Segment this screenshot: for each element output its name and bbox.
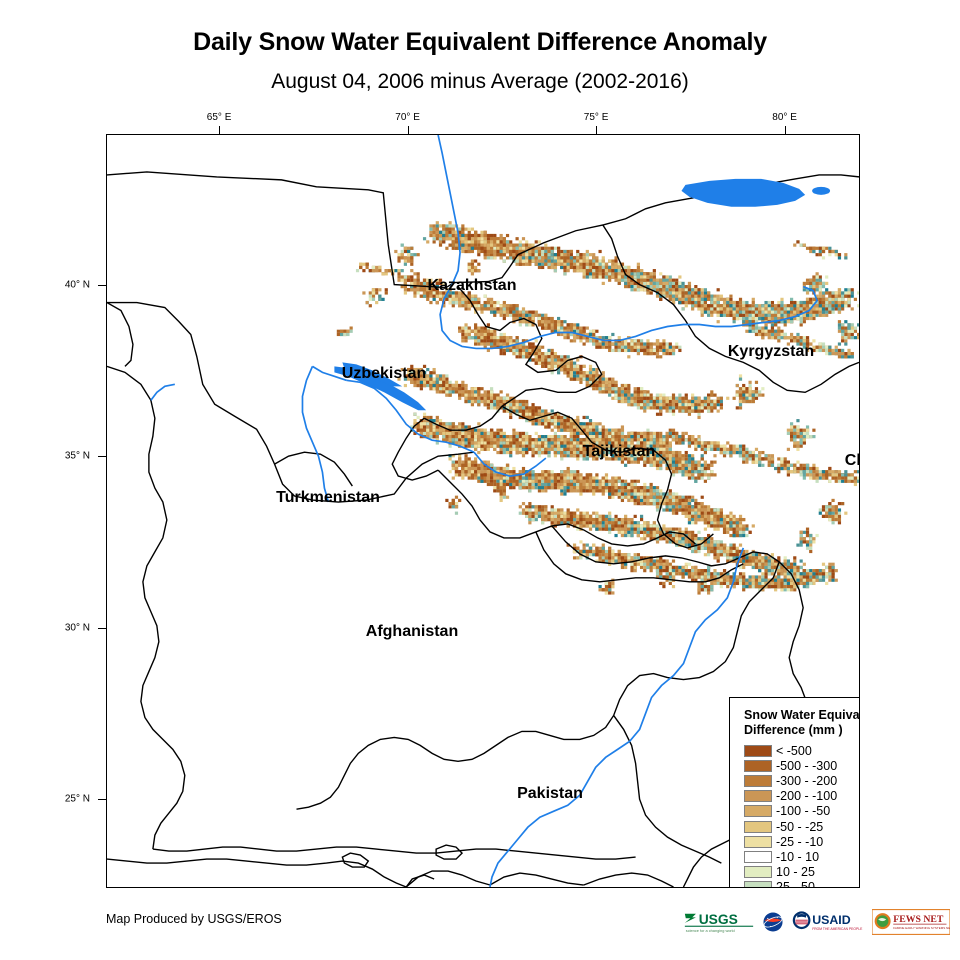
lat-tick-label: 35° N xyxy=(40,451,90,462)
legend-swatch xyxy=(744,866,772,878)
legend-row[interactable]: -50 - -25 xyxy=(744,819,860,834)
lat-tick-label: 25° N xyxy=(40,793,90,804)
lat-tick-label: 40° N xyxy=(40,279,90,290)
legend-swatch xyxy=(744,760,772,772)
legend-label: < -500 xyxy=(776,744,812,758)
lat-tick-mark xyxy=(98,799,106,800)
lon-tick-mark xyxy=(219,126,220,134)
lon-tick-label: 65° E xyxy=(207,112,232,123)
legend-swatch xyxy=(744,821,772,833)
legend-label: -50 - -25 xyxy=(776,820,823,834)
legend-row[interactable]: -200 - -100 xyxy=(744,789,860,804)
legend-class-list: < -500-500 - -300-300 - -200-200 - -100-… xyxy=(744,743,860,888)
country-label-turkmenistan: Turkmenistan xyxy=(276,489,380,507)
legend-label: -10 - 10 xyxy=(776,850,819,864)
legend-label: 25 - 50 xyxy=(776,880,815,888)
issyk-kul-lake xyxy=(681,179,805,207)
agency-logos: USGS science for a changing world USAID … xyxy=(683,908,950,936)
legend-row[interactable]: -10 - 10 xyxy=(744,849,860,864)
legend-row[interactable]: 25 - 50 xyxy=(744,880,860,888)
usaid-logo[interactable]: USAID FROM THE AMERICAN PEOPLE xyxy=(791,909,867,935)
footer-credit: Map Produced by USGS/EROS xyxy=(106,912,282,926)
lon-tick-label: 70° E xyxy=(395,112,420,123)
legend-swatch xyxy=(744,881,772,888)
country-label-china: China xyxy=(845,452,860,470)
legend-title-line2: Difference (mm ) xyxy=(744,723,860,738)
country-label-kyrgyzstan: Kyrgyzstan xyxy=(728,343,814,361)
legend-swatch xyxy=(744,851,772,863)
legend-row[interactable]: 10 - 25 xyxy=(744,865,860,880)
legend-label: -100 - -50 xyxy=(776,804,830,818)
legend-row[interactable]: -100 - -50 xyxy=(744,804,860,819)
legend-swatch xyxy=(744,745,772,757)
legend-label: -500 - -300 xyxy=(776,759,837,773)
legend-swatch xyxy=(744,775,772,787)
lat-tick-mark xyxy=(98,456,106,457)
lon-tick-mark xyxy=(785,126,786,134)
legend-row[interactable]: < -500 xyxy=(744,743,860,758)
country-label-pakistan: Pakistan xyxy=(517,785,583,803)
legend-row[interactable]: -300 - -200 xyxy=(744,773,860,788)
legend-swatch xyxy=(744,805,772,817)
country-label-tajikistan: Tajikistan xyxy=(583,443,656,461)
legend-label: 10 - 25 xyxy=(776,865,815,879)
country-label-kazakhstan: Kazakhstan xyxy=(428,277,517,295)
fewsnet-logo[interactable]: FEWS NET FAMINE EARLY WARNING SYSTEMS NE… xyxy=(872,909,950,935)
legend-label: -300 - -200 xyxy=(776,774,837,788)
lon-tick-label: 75° E xyxy=(584,112,609,123)
legend-title-line1: Snow Water Equivalent xyxy=(744,708,860,723)
legend-row[interactable]: -500 - -300 xyxy=(744,758,860,773)
usgs-logo[interactable]: USGS science for a changing world xyxy=(683,909,755,935)
legend-swatch xyxy=(744,790,772,802)
lat-tick-mark xyxy=(98,628,106,629)
map-legend[interactable]: Snow Water Equivalent Difference (mm ) <… xyxy=(729,697,860,888)
country-label-uzbekistan: Uzbekistan xyxy=(342,365,426,383)
legend-row[interactable]: -25 - -10 xyxy=(744,834,860,849)
page-subtitle: August 04, 2006 minus Average (2002-2016… xyxy=(0,70,960,94)
lon-tick-mark xyxy=(408,126,409,134)
legend-label: -200 - -100 xyxy=(776,789,837,803)
small-lake xyxy=(812,187,830,195)
map-canvas[interactable]: KazakhstanUzbekistanKyrgyzstanTajikistan… xyxy=(106,134,860,888)
nasa-logo[interactable] xyxy=(760,909,786,935)
lat-tick-label: 30° N xyxy=(40,622,90,633)
country-label-afghanistan: Afghanistan xyxy=(366,623,458,641)
legend-label: -25 - -10 xyxy=(776,835,823,849)
lon-tick-mark xyxy=(596,126,597,134)
lon-tick-label: 80° E xyxy=(772,112,797,123)
legend-title: Snow Water Equivalent Difference (mm ) xyxy=(744,708,860,738)
legend-swatch xyxy=(744,836,772,848)
page-title: Daily Snow Water Equivalent Difference A… xyxy=(0,28,960,57)
lat-tick-mark xyxy=(98,285,106,286)
